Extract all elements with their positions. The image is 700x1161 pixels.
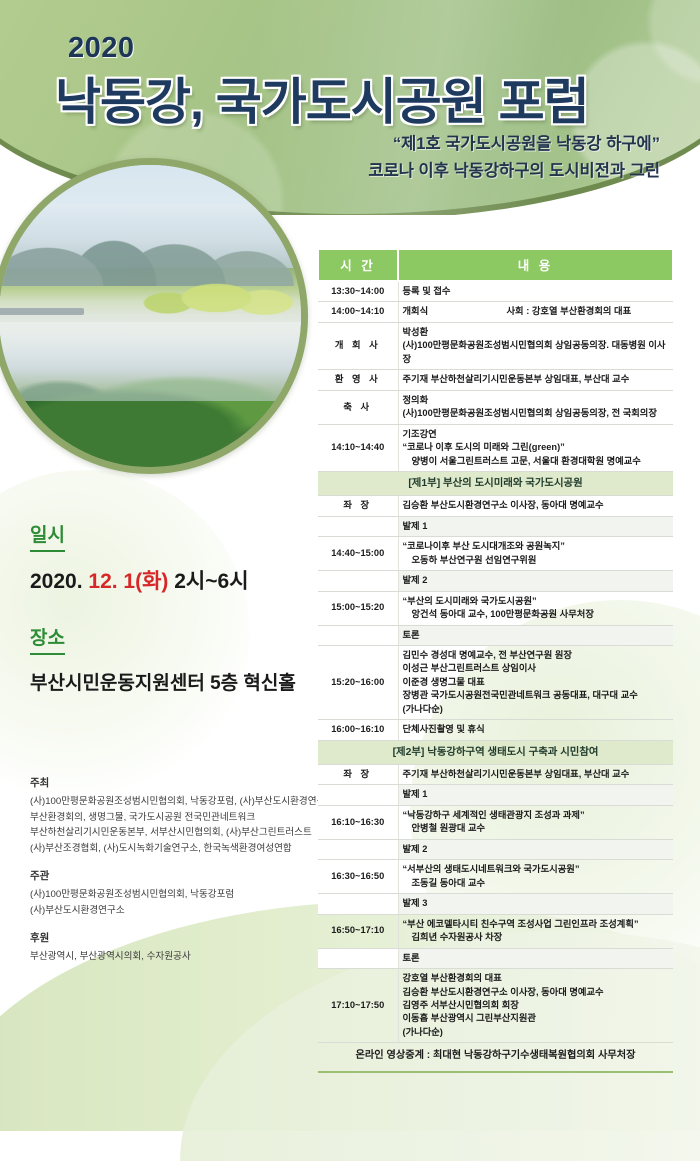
schedule-content-cell: 김승환 부산도시환경연구소 이사장, 동아대 명예교수 <box>398 496 673 516</box>
schedule-subheading-label: 발제 2 <box>398 571 673 591</box>
schedule-table: 시 간 내 용 13:30~14:00등록 및 접수14:00~14:10개회식… <box>317 248 674 1073</box>
schedule-time-cell: 14:10~14:40 <box>318 424 398 471</box>
credits-section: 주최(사)100만평문화공원조성범시민협의회, 낙동강포럼, (사)부산도시환경… <box>30 775 305 977</box>
schedule-content-line: 이동흡 부산광역시 그린부산지원관 <box>403 1012 670 1025</box>
schedule-subheading-label: 토론 <box>398 625 673 645</box>
schedule-time-cell <box>318 625 398 645</box>
credit-line: 부산광역시, 부산광역시의회, 수자원공사 <box>30 949 305 965</box>
schedule-content-line: 이성근 부산그린트러스트 상임이사 <box>403 662 670 675</box>
schedule-content-cell: “서부산의 생태도시네트워크와 국가도시공원”조동길 동아대 교수 <box>398 860 673 894</box>
schedule-time-cell: 16:00~16:10 <box>318 720 398 740</box>
schedule-content-line: (가나다순) <box>403 1026 670 1039</box>
schedule-content-cell: 강호열 부산환경회의 대표김승환 부산도시환경연구소 이사장, 동아대 명예교수… <box>398 969 673 1043</box>
schedule-time-cell: 16:30~16:50 <box>318 860 398 894</box>
schedule-content-line: 등록 및 접수 <box>403 285 670 298</box>
credit-block-title: 주관 <box>30 868 305 883</box>
schedule-content-line: “코로나이후 부산 도시대개조와 공원녹지” <box>403 540 670 553</box>
schedule-content-line: 김승환 부산도시환경연구소 이사장, 동아대 명예교수 <box>403 986 670 999</box>
schedule-content-line: “부산 에코델타시티 친수구역 조성사업 그린인프라 조성계획” <box>403 918 670 931</box>
schedule-subheading-row: 발제 1 <box>318 785 673 805</box>
schedule-content-line: “낙동강하구 세계적인 생태관광지 조성과 과제” <box>403 809 670 822</box>
credit-block-title: 후원 <box>30 930 305 945</box>
schedule-content-cell: “부산의 도시미래와 국가도시공원”앙건석 동아대 교수, 100만평문화공원 … <box>398 591 673 625</box>
schedule-body: 13:30~14:00등록 및 접수14:00~14:10개회식사회 : 강호열… <box>318 281 673 1072</box>
schedule-content-speaker: 오동하 부산연구원 선임연구위원 <box>403 554 670 567</box>
schedule-time-cell <box>318 516 398 536</box>
credit-block: 주관(사)100만평문화공원조성범시민협의회, 낙동강포럼(사)부산도시환경연구… <box>30 868 305 918</box>
schedule-time-cell: 16:50~17:10 <box>318 914 398 948</box>
schedule-content-line: 박성환 <box>403 326 670 339</box>
schedule-content-cell: “부산 에코델타시티 친수구역 조성사업 그린인프라 조성계획”김희년 수자원공… <box>398 914 673 948</box>
schedule-content-line: “서부산의 생태도시네트워크와 국가도시공원” <box>403 863 670 876</box>
schedule-content-line: 정의화 <box>403 394 670 407</box>
schedule-row: 14:10~14:40기조강연“코로나 이후 도시의 미래와 그린(green)… <box>318 424 673 471</box>
schedule-time-cell: 15:00~15:20 <box>318 591 398 625</box>
schedule-time-cell: 좌 장 <box>318 764 398 784</box>
schedule-section-band: [제1부] 부산의 도시미래와 국가도시공원 <box>318 472 673 496</box>
schedule-content-cell: 정의화(사)100만평문화공원조성범시민협의회 상임공동의장, 전 국회의장 <box>398 390 673 424</box>
schedule-row: 14:00~14:10개회식사회 : 강호열 부산환경회의 대표 <box>318 302 673 322</box>
river-photo <box>0 158 308 474</box>
schedule-content-speaker: 조동길 동아대 교수 <box>403 877 670 890</box>
poster-year: 2020 <box>68 32 135 65</box>
schedule-time-cell: 15:20~16:00 <box>318 645 398 719</box>
schedule-footer-row: 온라인 영상중계 : 최대현 낙동강하구기수생태복원협의회 사무처장 <box>318 1043 673 1072</box>
poster-subtitle-1: “제1호 국가도시공원을 낙동강 하구에” <box>393 130 660 154</box>
schedule-content-line: 기조강연 <box>403 428 670 441</box>
poster-title: 낙동강, 국가도시공원 포럼 <box>55 62 589 134</box>
schedule-header-content: 내 용 <box>398 249 673 281</box>
place-value: 부산시민운동지원센터 5층 혁신홀 <box>30 668 296 695</box>
credit-line: (사)100만평문화공원조성범시민협의회, 낙동강포럼, (사)부산도시환경연구… <box>30 794 305 810</box>
schedule-content-cell: “코로나이후 부산 도시대개조와 공원녹지”오동하 부산연구원 선임연구위원 <box>398 537 673 571</box>
schedule-content-line: “부산의 도시미래와 국가도시공원” <box>403 595 670 608</box>
photo-bridge <box>0 308 84 315</box>
schedule-content-line: 이준경 생명그물 대표 <box>403 676 670 689</box>
schedule-content-cell: “낙동강하구 세계적인 생태관광지 조성과 과제”안병철 원광대 교수 <box>398 805 673 839</box>
schedule-time-cell: 16:10~16:30 <box>318 805 398 839</box>
schedule-header-time: 시 간 <box>318 249 398 281</box>
schedule-time-cell: 13:30~14:00 <box>318 281 398 302</box>
schedule-subheading-row: 발제 3 <box>318 894 673 914</box>
schedule-row: 개 회 사박성환(사)100만평문화공원조성범시민협의회 상임공동의장. 대동병… <box>318 322 673 369</box>
schedule-content-line: 장병관 국가도시공원전국민관네트워크 공동대표, 대구대 교수 <box>403 689 670 702</box>
schedule-subheading-row: 발제 2 <box>318 571 673 591</box>
date-year: 2020. <box>30 570 88 593</box>
credit-block: 주최(사)100만평문화공원조성범시민협의회, 낙동강포럼, (사)부산도시환경… <box>30 775 305 856</box>
schedule-row: 환 영 사주기재 부산하천살리기시민운동본부 상임대표, 부산대 교수 <box>318 370 673 390</box>
schedule-subheading-label: 발제 1 <box>398 516 673 536</box>
schedule-subheading-label: 발제 1 <box>398 785 673 805</box>
schedule-content-cell: 주기재 부산하천살리기시민운동본부 상임대표, 부산대 교수 <box>398 764 673 784</box>
schedule-time-cell: 환 영 사 <box>318 370 398 390</box>
schedule-row: 13:30~14:00등록 및 접수 <box>318 281 673 302</box>
credit-line: 부산환경회의, 생명그물, 국가도시공원 전국민관네트워크 <box>30 810 305 826</box>
schedule-row: 축 사정의화(사)100만평문화공원조성범시민협의회 상임공동의장, 전 국회의… <box>318 390 673 424</box>
schedule-content-line: 김승환 부산도시환경연구소 이사장, 동아대 명예교수 <box>403 499 670 512</box>
schedule-row: 16:00~16:10 단체사진촬영 및 휴식 <box>318 720 673 740</box>
event-info: 일시 2020. 12. 1(화) 2시~6시 장소 부산시민운동지원센터 5층… <box>30 520 296 695</box>
schedule-section-label: [제2부] 낙동강하구역 생태도시 구축과 시민참여 <box>318 740 673 764</box>
schedule-content-speaker: 양병이 서울그린트러스트 고문, 서울대 환경대학원 명예교수 <box>403 455 670 468</box>
schedule-time-cell: 14:00~14:10 <box>318 302 398 322</box>
date-month: 12. <box>88 570 123 593</box>
date-value: 2020. 12. 1(화) 2시~6시 <box>30 565 296 595</box>
schedule-row: 16:30~16:50“서부산의 생태도시네트워크와 국가도시공원”조동길 동아… <box>318 860 673 894</box>
schedule-content-line: 김민수 경성대 명예교수, 전 부산연구원 원장 <box>403 649 670 662</box>
schedule-row: 17:10~17:50강호열 부산환경회의 대표김승환 부산도시환경연구소 이사… <box>318 969 673 1043</box>
schedule-subheading-row: 발제 1 <box>318 516 673 536</box>
schedule-content-line: 김영주 서부산시민협의회 회장 <box>403 999 670 1012</box>
schedule-content-line: 주기재 부산하천살리기시민운동본부 상임대표, 부산대 교수 <box>403 373 670 386</box>
photo-mountain-layer <box>0 237 301 285</box>
schedule-content-speaker: 김희년 수자원공사 차장 <box>403 931 670 944</box>
schedule-content-speaker: 앙건석 동아대 교수, 100만평문화공원 사무처장 <box>403 608 670 621</box>
schedule-subheading-label: 토론 <box>398 948 673 968</box>
schedule-time-cell: 개 회 사 <box>318 322 398 369</box>
schedule-time-cell <box>318 785 398 805</box>
schedule-content-line: 강호열 부산환경회의 대표 <box>403 972 670 985</box>
schedule-content-line: 주기재 부산하천살리기시민운동본부 상임대표, 부산대 교수 <box>403 768 670 781</box>
credit-block: 후원 부산광역시, 부산광역시의회, 수자원공사 <box>30 930 305 965</box>
schedule-mc-label: 사회 : 강호열 부산환경회의 대표 <box>507 305 632 318</box>
schedule-subheading-row: 발제 2 <box>318 839 673 859</box>
schedule-time-cell: 좌 장 <box>318 496 398 516</box>
schedule-subheading-label: 발제 3 <box>398 894 673 914</box>
credit-line: (사)부산도시환경연구소 <box>30 903 305 919</box>
schedule-content-cell: 단체사진촬영 및 휴식 <box>398 720 673 740</box>
schedule-row: 15:20~16:00김민수 경성대 명예교수, 전 부산연구원 원장이성근 부… <box>318 645 673 719</box>
date-day: 1(화) <box>123 570 168 593</box>
schedule-content-line: 단체사진촬영 및 휴식 <box>403 723 670 736</box>
date-time: 2시~6시 <box>168 570 248 593</box>
poster-subtitle-2: 코로나 이후 낙동강하구의 도시비전과 그린 <box>368 157 660 181</box>
credit-line: (사)100만평문화공원조성범시민협의회, 낙동강포럼 <box>30 887 305 903</box>
river-photo-image <box>0 165 301 467</box>
credit-line: 부산하천살리기시민운동본부, 서부산시민협의회, (사)부산그린트러스트 <box>30 825 305 841</box>
schedule-content-line: (사)100만평문화공원조성범시민협의회 상임공동의장, 전 국회의장 <box>403 407 670 420</box>
online-broadcast-label: 온라인 영상중계 : 최대현 낙동강하구기수생태복원협의회 사무처장 <box>318 1043 673 1072</box>
schedule-time-cell: 14:40~15:00 <box>318 537 398 571</box>
schedule-content-speaker: 안병철 원광대 교수 <box>403 822 670 835</box>
schedule-subheading-row: 토론 <box>318 948 673 968</box>
photo-water-layer <box>0 322 301 401</box>
schedule-time-cell <box>318 571 398 591</box>
schedule-row: 15:00~15:20“부산의 도시미래와 국가도시공원”앙건석 동아대 교수,… <box>318 591 673 625</box>
schedule-content-line: (가나다순) <box>403 703 670 716</box>
date-label: 일시 <box>30 520 65 552</box>
schedule-section-label: [제1부] 부산의 도시미래와 국가도시공원 <box>318 472 673 496</box>
schedule-time-cell: 17:10~17:50 <box>318 969 398 1043</box>
schedule-content-line: (사)100만평문화공원조성범시민협의회 상임공동의장. 대동병원 이사장 <box>403 339 670 366</box>
schedule-row: 14:40~15:00“코로나이후 부산 도시대개조와 공원녹지”오동하 부산연… <box>318 537 673 571</box>
schedule-content-cell: 주기재 부산하천살리기시민운동본부 상임대표, 부산대 교수 <box>398 370 673 390</box>
schedule-content-cell: 김민수 경성대 명예교수, 전 부산연구원 원장이성근 부산그린트러스트 상임이… <box>398 645 673 719</box>
schedule-content-cell: 개회식사회 : 강호열 부산환경회의 대표 <box>398 302 673 322</box>
schedule-row: 16:50~17:10“부산 에코델타시티 친수구역 조성사업 그린인프라 조성… <box>318 914 673 948</box>
schedule-time-cell <box>318 948 398 968</box>
schedule-row: 좌 장김승환 부산도시환경연구소 이사장, 동아대 명예교수 <box>318 496 673 516</box>
schedule-content-cell: 박성환(사)100만평문화공원조성범시민협의회 상임공동의장. 대동병원 이사장 <box>398 322 673 369</box>
schedule-section-band: [제2부] 낙동강하구역 생태도시 구축과 시민참여 <box>318 740 673 764</box>
place-label: 장소 <box>30 623 65 655</box>
schedule-subheading-row: 토론 <box>318 625 673 645</box>
credit-block-title: 주최 <box>30 775 305 790</box>
schedule-content-cell: 등록 및 접수 <box>398 281 673 302</box>
schedule-table-wrap: 시 간 내 용 13:30~14:00등록 및 접수14:00~14:10개회식… <box>317 248 672 1073</box>
schedule-time-cell <box>318 894 398 914</box>
schedule-subheading-label: 발제 2 <box>398 839 673 859</box>
schedule-content-line: “코로나 이후 도시의 미래와 그린(green)” <box>403 441 670 454</box>
schedule-time-cell <box>318 839 398 859</box>
credit-line: (사)부산조경협회, (사)도시녹화기술연구소, 한국녹색환경여성연합 <box>30 841 305 857</box>
schedule-row: 16:10~16:30“낙동강하구 세계적인 생태관광지 조성과 과제”안병철 … <box>318 805 673 839</box>
schedule-time-cell: 축 사 <box>318 390 398 424</box>
schedule-content-cell: 기조강연“코로나 이후 도시의 미래와 그린(green)”양병이 서울그린트러… <box>398 424 673 471</box>
schedule-row: 좌 장주기재 부산하천살리기시민운동본부 상임대표, 부산대 교수 <box>318 764 673 784</box>
